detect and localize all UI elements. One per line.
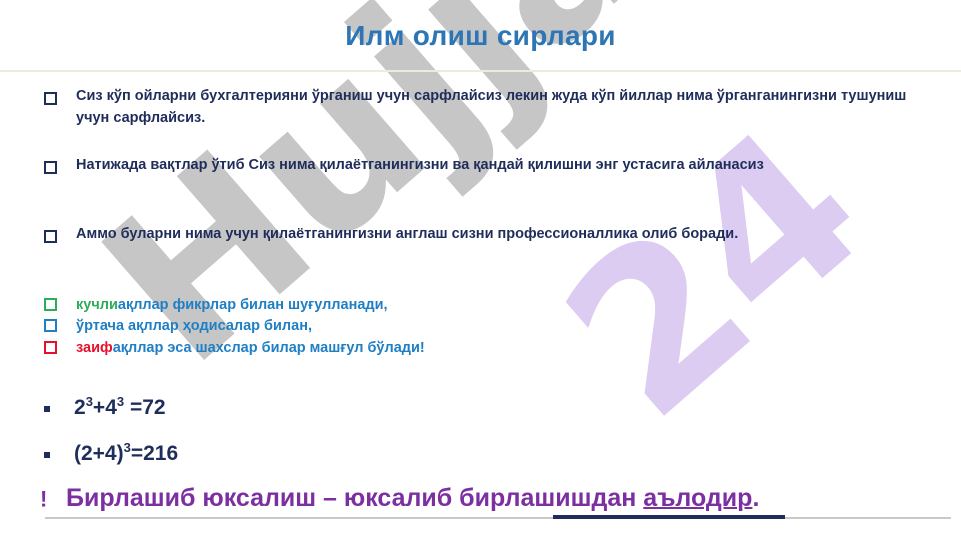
header-divider (0, 70, 961, 72)
exclamation-icon: ! (40, 486, 66, 511)
hollow-square-icon-green (44, 298, 76, 313)
hollow-square-icon-red (44, 341, 76, 356)
page-title: Илм олиш сирлари (0, 20, 961, 52)
list-item: Натижада вақтлар ўтиб Сиз нима қилаётган… (44, 155, 939, 177)
colored-list-label: ўртача ақллар ҳодисалар билан, (76, 318, 312, 334)
list-item-label: Аммо буларни нима учун қилаётганингизни … (76, 224, 738, 246)
conclusion-emphasis: аълодир (643, 484, 752, 512)
math-expression: 23+43 =72 (74, 396, 166, 420)
colored-list-item: ўртача ақллар ҳодисалар билан, (44, 318, 312, 334)
list-item: Аммо буларни нима учун қилаётганингизни … (44, 224, 939, 246)
solid-square-icon (44, 444, 74, 465)
colored-list-item: заиф ақллар эса шахслар билар машғул бўл… (44, 340, 425, 356)
slide-content: Илм олиш сирлари Сиз кўп ойларни бухгалт… (0, 0, 961, 540)
footer-divider-accent (553, 515, 785, 519)
math-expression-row: (2+4)3=216 (44, 442, 178, 466)
colored-list-label: ақллар фикрлар билан шуғулланади, (118, 297, 388, 313)
hollow-square-icon (44, 224, 76, 245)
solid-square-icon (44, 398, 74, 419)
hollow-square-icon (44, 155, 76, 176)
conclusion-text: Бирлашиб юксалиш – юксалиб бирлашишдан а… (66, 484, 759, 513)
conclusion-row: ! Бирлашиб юксалиш – юксалиб бирлашишдан… (40, 484, 759, 513)
list-item: Сиз кўп ойларни бухгалтерияни ўрганиш уч… (44, 86, 939, 130)
math-expression: (2+4)3=216 (74, 442, 178, 466)
colored-list-item: кучли ақллар фикрлар билан шуғулланади, (44, 297, 388, 313)
hollow-square-icon (44, 86, 76, 107)
colored-list-keyword: заиф (76, 340, 113, 356)
slide-canvas: Hujjat 24 Илм олиш сирлари Сиз кўп ойлар… (0, 0, 961, 540)
footer-divider (45, 517, 951, 519)
math-expression-row: 23+43 =72 (44, 396, 166, 420)
hollow-square-icon-blue (44, 319, 76, 334)
list-item-label: Сиз кўп ойларни бухгалтерияни ўрганиш уч… (76, 86, 939, 130)
colored-list-keyword: кучли (76, 297, 118, 313)
list-item-label: Натижада вақтлар ўтиб Сиз нима қилаётган… (76, 155, 764, 177)
colored-list-label: ақллар эса шахслар билар машғул бўлади! (113, 340, 425, 356)
